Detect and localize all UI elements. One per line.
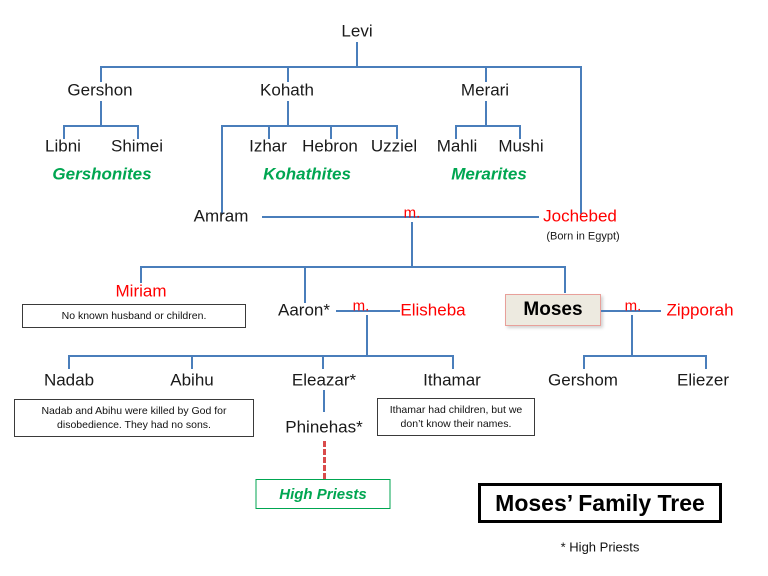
person-levi: Levi — [341, 23, 372, 40]
person-eliezer: Eliezer — [677, 372, 729, 389]
connector-moses-children-stem — [631, 315, 633, 355]
person-kohath: Kohath — [260, 82, 314, 99]
connector-gershon-sibling-bar — [63, 125, 138, 127]
connector-to-eliezer — [705, 355, 707, 369]
person-miriam: Miriam — [116, 283, 167, 300]
connector-to-gershom — [583, 355, 585, 369]
family-tree-diagram: Levi Gershon Libni Shimei Gershonites Ko… — [0, 0, 768, 576]
person-elisheba: Elisheba — [400, 302, 465, 319]
connector-merari-stem — [485, 101, 487, 125]
connector-levi-sibling-bar — [100, 66, 582, 68]
connector-amram-jochebed-marriage — [262, 216, 539, 218]
connector-eleazar-to-phinehas — [323, 390, 325, 412]
connector-to-aaron — [304, 266, 306, 303]
connector-to-moses — [564, 266, 566, 293]
connector-to-eleazar — [322, 355, 324, 369]
person-uzziel: Uzziel — [371, 138, 417, 155]
connector-aaron-children-bar — [68, 355, 454, 357]
connector-to-miriam — [140, 266, 142, 283]
connector-kohath-stem — [287, 101, 289, 125]
person-libni: Libni — [45, 138, 81, 155]
connector-phinehas-to-high-priests — [323, 441, 326, 479]
person-nadab: Nadab — [44, 372, 94, 389]
person-jochebed: Jochebed — [543, 208, 617, 225]
connector-aaron-children-stem — [366, 315, 368, 355]
person-phinehas: Phinehas* — [285, 419, 363, 436]
diagram-title: Moses’ Family Tree — [478, 483, 722, 523]
connector-to-nadab — [68, 355, 70, 369]
marriage-label-moses-zipporah: m. — [625, 299, 642, 314]
person-jochebed-note: (Born in Egypt) — [546, 232, 619, 243]
person-mushi: Mushi — [498, 138, 543, 155]
person-hebron: Hebron — [302, 138, 358, 155]
person-gershon: Gershon — [67, 82, 132, 99]
connector-amram-children-bar — [140, 266, 565, 268]
connector-gershon-stem — [100, 101, 102, 125]
person-eleazar: Eleazar* — [292, 372, 356, 389]
connector-to-ithamar — [452, 355, 454, 369]
person-shimei: Shimei — [111, 138, 163, 155]
legend-high-priests: * High Priests — [561, 540, 640, 555]
marriage-label-amram-jochebed: m. — [404, 206, 421, 221]
box-high-priests: High Priests — [256, 479, 391, 509]
person-aaron: Aaron* — [278, 302, 330, 319]
connector-merari-sibling-bar — [455, 125, 520, 127]
person-izhar: Izhar — [249, 138, 287, 155]
connector-moses-children-bar — [583, 355, 706, 357]
connector-levi-to-jochebed — [580, 66, 582, 214]
person-abihu: Abihu — [170, 372, 213, 389]
person-gershom: Gershom — [548, 372, 618, 389]
marriage-label-aaron-elisheba: m. — [353, 299, 370, 314]
person-merari: Merari — [461, 82, 509, 99]
note-nadab-abihu: Nadab and Abihu were killed by God for d… — [14, 399, 254, 437]
connector-amram-children-stem — [411, 222, 413, 266]
clan-kohathites: Kohathites — [263, 166, 351, 183]
note-miriam: No known husband or children. — [22, 304, 246, 328]
note-ithamar: Ithamar had children, but we don’t know … — [377, 398, 535, 436]
person-zipporah: Zipporah — [666, 302, 733, 319]
connector-kohath-to-amram — [221, 125, 223, 214]
person-amram: Amram — [194, 208, 249, 225]
clan-gershonites: Gershonites — [52, 166, 151, 183]
connector-kohath-sibling-bar — [221, 125, 397, 127]
connector-to-abihu — [191, 355, 193, 369]
person-moses: Moses — [505, 294, 601, 326]
connector-levi-stem — [356, 42, 358, 66]
person-mahli: Mahli — [437, 138, 478, 155]
person-ithamar: Ithamar — [423, 372, 481, 389]
clan-merarites: Merarites — [451, 166, 527, 183]
